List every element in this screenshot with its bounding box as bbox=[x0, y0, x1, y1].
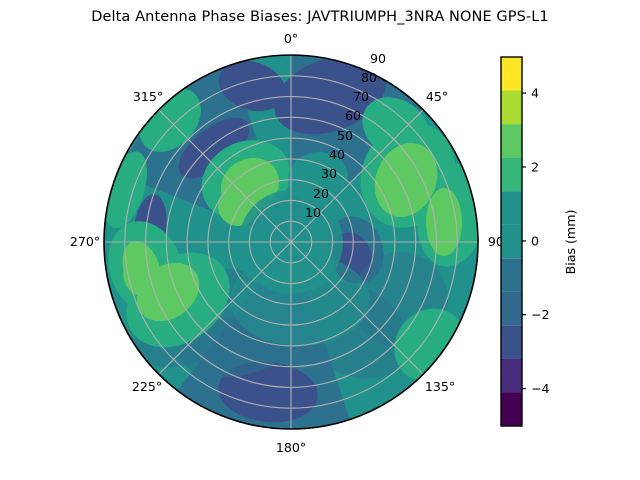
radial-tick-50: 50 bbox=[337, 128, 353, 143]
colorbar-bands bbox=[501, 57, 522, 426]
angular-tick-0: 0° bbox=[284, 31, 298, 46]
radial-tick-70: 70 bbox=[353, 89, 369, 104]
colorbar-tick-2: 2 bbox=[531, 159, 539, 174]
angular-tick-135: 135° bbox=[425, 379, 455, 394]
angular-tick-45: 45° bbox=[426, 89, 448, 104]
figure-canvas: Delta Antenna Phase Biases: JAVTRIUMPH_3… bbox=[0, 0, 640, 480]
radial-tick-80: 80 bbox=[361, 70, 377, 85]
colorbar-tick-neg4: −4 bbox=[531, 381, 550, 396]
radial-tick-30: 30 bbox=[321, 166, 337, 181]
colorbar-tick-4: 4 bbox=[531, 86, 539, 101]
radial-tick-20: 20 bbox=[313, 186, 329, 201]
radial-tick-60: 60 bbox=[345, 108, 361, 123]
colorbar-tick-neg2: −2 bbox=[531, 307, 550, 322]
colorbar-tick-labels: 4 2 0 −2 −4 bbox=[531, 86, 550, 397]
radial-tick-10: 10 bbox=[305, 205, 321, 220]
polar-grid bbox=[104, 55, 478, 429]
colorbar-tick-0: 0 bbox=[531, 233, 539, 248]
colorbar-axis-label: Bias (mm) bbox=[563, 210, 578, 275]
angular-tick-180: 180° bbox=[276, 440, 306, 455]
angular-tick-225: 225° bbox=[132, 379, 162, 394]
angular-tick-270: 270° bbox=[70, 234, 100, 249]
colorbar[interactable]: 4 2 0 −2 −4 Bias (mm) bbox=[501, 57, 578, 426]
angular-tick-315: 315° bbox=[133, 89, 163, 104]
radial-tick-90: 90 bbox=[370, 51, 386, 66]
polar-contour-plot: 0° 45° 90° 135° 180° 225° 270° 315° 10 2… bbox=[0, 0, 640, 480]
radial-tick-40: 40 bbox=[329, 147, 345, 162]
